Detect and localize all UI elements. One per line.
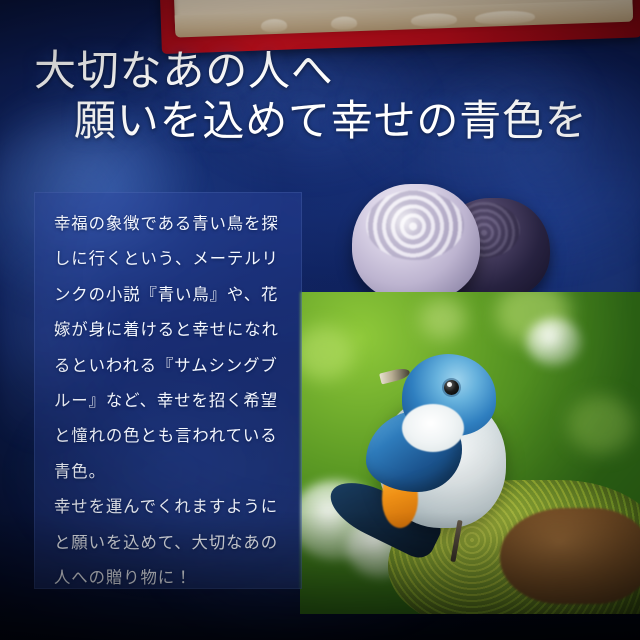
vignette-overlay bbox=[0, 0, 640, 640]
promo-banner: 大切なあの人へ 願いを込めて幸せの青色を bbox=[0, 0, 640, 640]
